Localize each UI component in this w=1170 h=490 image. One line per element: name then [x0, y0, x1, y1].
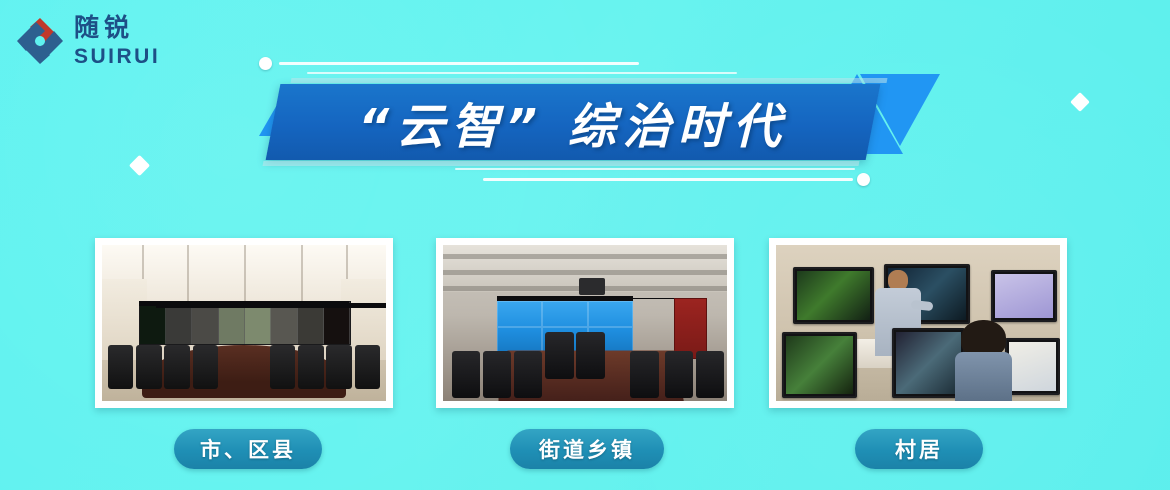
- banner-edge-top: [291, 78, 888, 83]
- decor-dot-top-left: [259, 57, 272, 70]
- decor-diamond-right: [1070, 92, 1090, 112]
- meeting-room-blue-video-wall-image: [443, 245, 727, 401]
- brand-name-cn: 随锐: [74, 16, 160, 41]
- brand-name-en: SUIRUI: [74, 46, 160, 67]
- brand-logo: 随锐 SUIRUI: [14, 14, 160, 67]
- decor-diamond-left: [129, 155, 150, 176]
- decor-line-bottom-2: [483, 178, 853, 181]
- decor-line-top-2: [307, 72, 737, 74]
- banner-shape: [266, 84, 881, 160]
- card-row: 市、区县: [0, 238, 1170, 478]
- command-room-video-wall-image: [102, 245, 386, 401]
- photo-frame: [436, 238, 734, 408]
- photo-frame: [769, 238, 1067, 408]
- decor-line-bottom-1: [455, 168, 855, 170]
- title-banner: “云智” 综治时代: [255, 52, 945, 192]
- card-label-village[interactable]: 村居: [855, 429, 983, 469]
- card-label-street-township[interactable]: 街道乡镇: [510, 429, 664, 469]
- card-village[interactable]: 村居: [769, 238, 1067, 408]
- decor-line-top-1: [279, 62, 639, 65]
- banner-edge-bottom: [263, 161, 860, 166]
- decor-dot-bottom-right: [857, 173, 870, 186]
- suirui-pinwheel-logo-icon: [14, 15, 66, 67]
- card-street-township[interactable]: 街道乡镇: [436, 238, 734, 408]
- officer-monitoring-screens-image: [776, 245, 1060, 401]
- photo-frame: [95, 238, 393, 408]
- card-city-district[interactable]: 市、区县: [95, 238, 393, 408]
- slide-canvas: 随锐 SUIRUI “云智” 综治时代: [0, 0, 1170, 490]
- card-label-city-district[interactable]: 市、区县: [174, 429, 322, 469]
